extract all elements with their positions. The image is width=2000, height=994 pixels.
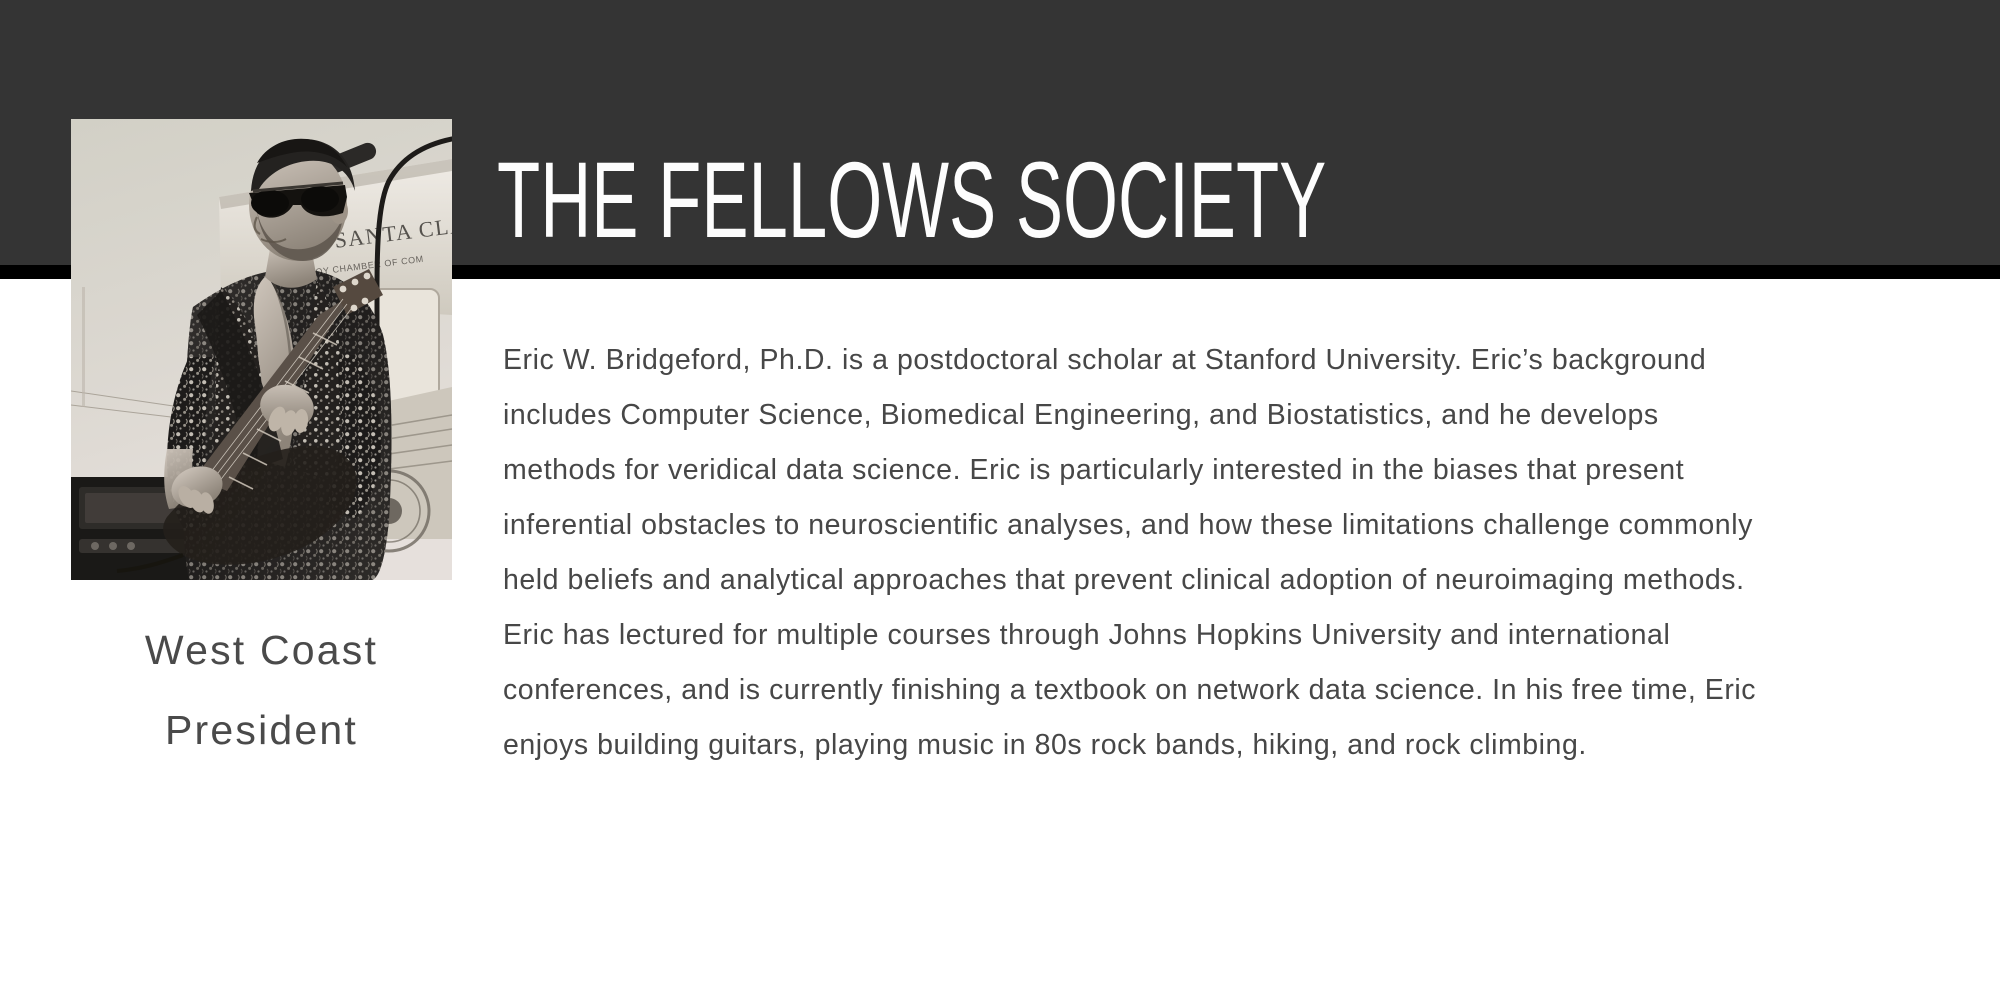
profile-photo: S OF SANTA CLARA E GILROY CHAMBER OF COM… [71, 119, 452, 580]
bio-paragraph: Eric W. Bridgeford, Ph.D. is a postdocto… [503, 333, 1758, 773]
musician-playing-guitar-photo: S OF SANTA CLARA E GILROY CHAMBER OF COM… [71, 119, 452, 580]
caption-line-2: President [71, 690, 452, 770]
profile-caption: West Coast President [71, 610, 452, 770]
bio-section: Eric W. Bridgeford, Ph.D. is a postdocto… [503, 333, 1758, 773]
site-title: THE FELLOWS SOCIETY [497, 146, 1326, 254]
caption-line-1: West Coast [71, 610, 452, 690]
